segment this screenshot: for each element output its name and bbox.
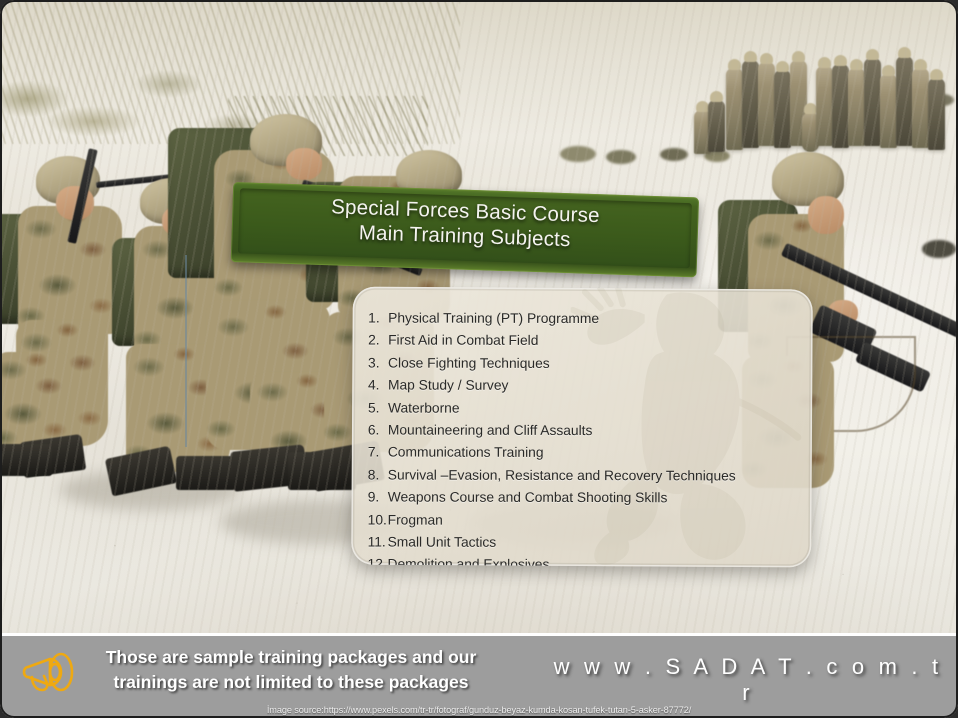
rock: [660, 148, 688, 161]
footer-note-text: Those are sample training packages and o…: [86, 645, 496, 695]
title-banner: Special Forces Basic Course Main Trainin…: [231, 182, 699, 277]
image-credit-text: İmage source:https://www.pexels.com/tr-t…: [0, 705, 958, 715]
distant-soldier-group: [690, 14, 952, 154]
list-item-label: Communications Training: [388, 445, 544, 460]
list-item: 2.First Aid in Combat Field: [368, 330, 802, 354]
list-item-label: First Aid in Combat Field: [388, 333, 538, 348]
list-item-label: Map Study / Survey: [388, 378, 508, 393]
list-item: 11.Small Unit Tactics: [368, 532, 802, 556]
rock: [922, 240, 956, 258]
rock: [560, 146, 596, 162]
banner-stem: [185, 255, 187, 447]
list-item-number: 7.: [368, 442, 388, 464]
list-item-number: 10.: [368, 509, 388, 531]
ground-shadow: [60, 470, 240, 510]
list-item: 1.Physical Training (PT) Programme: [368, 307, 802, 331]
list-item: 8.Survival –Evasion, Resistance and Reco…: [368, 464, 802, 488]
list-item-label: Weapons Course and Combat Shooting Skill…: [388, 490, 668, 506]
list-item-label: Physical Training (PT) Programme: [388, 311, 599, 327]
list-item-label: Waterborne: [388, 400, 460, 415]
list-item: 3.Close Fighting Techniques: [368, 352, 802, 376]
list-item-label: Close Fighting Techniques: [388, 355, 550, 370]
scrub-grass: [0, 0, 460, 144]
megaphone-icon: [20, 652, 78, 696]
training-subjects-list: 1.Physical Training (PT) Programme 2.Fir…: [367, 307, 802, 567]
rock: [704, 150, 730, 162]
list-item-number: 9.: [368, 487, 388, 509]
list-item-label: Survival –Evasion, Resistance and Recove…: [388, 467, 736, 483]
list-item: 9.Weapons Course and Combat Shooting Ski…: [368, 487, 802, 511]
list-item-number: 3.: [368, 352, 388, 374]
footer-bar: Those are sample training packages and o…: [0, 633, 958, 718]
training-subjects-panel: 1.Physical Training (PT) Programme 2.Fir…: [351, 287, 813, 568]
list-item-label: Frogman: [388, 512, 443, 527]
website-url[interactable]: w w w . S A D A T . c o m . t r: [548, 654, 948, 706]
list-item-number: 1.: [368, 307, 388, 329]
list-item: 5.Waterborne: [368, 397, 802, 421]
list-item: 10.Frogman: [368, 509, 802, 533]
list-item-number: 4.: [368, 375, 388, 397]
list-item: 4.Map Study / Survey: [368, 375, 802, 399]
list-item: 7.Communications Training: [368, 442, 802, 466]
slide-canvas: Special Forces Basic Course Main Trainin…: [0, 0, 958, 718]
scrub-grass-secondary: [228, 96, 428, 156]
list-item-label: Small Unit Tactics: [388, 535, 497, 550]
rock: [606, 150, 636, 164]
list-item-number: 8.: [368, 464, 388, 486]
list-item-number: 11.: [368, 532, 388, 554]
list-item-label: Mountaineering and Cliff Assaults: [388, 423, 593, 439]
list-item-number: 5.: [368, 397, 388, 419]
rock: [930, 94, 954, 106]
list-item-number: 2.: [368, 330, 388, 352]
list-item: 6.Mountaineering and Cliff Assaults: [368, 419, 802, 443]
list-item-number: 6.: [368, 419, 388, 441]
